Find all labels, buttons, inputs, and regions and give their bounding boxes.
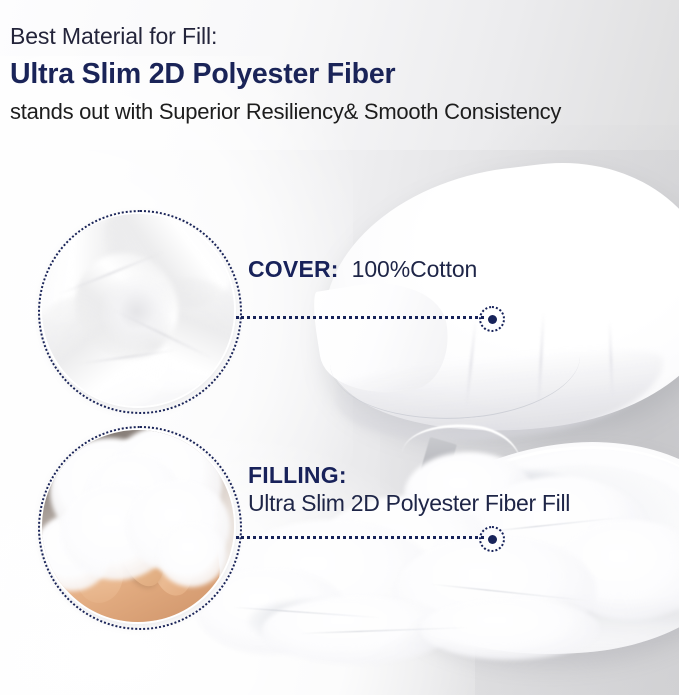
cover-callout-text: COVER: 100%Cotton <box>248 256 477 283</box>
header-block: Best Material for Fill: Ultra Slim 2D Po… <box>10 22 670 126</box>
filling-swatch-photo <box>42 430 234 622</box>
filling-value: Ultra Slim 2D Polyester Fiber Fill <box>248 490 570 517</box>
header-eyebrow: Best Material for Fill: <box>10 22 670 51</box>
cover-label: COVER: <box>248 256 339 283</box>
filling-leader-line <box>236 536 484 539</box>
header-subtitle: stands out with Superior Resiliency& Smo… <box>10 98 670 127</box>
filling-marker-dot-icon <box>479 526 505 552</box>
filling-label: FILLING: <box>248 462 570 489</box>
cover-marker-dot-icon <box>479 306 505 332</box>
product-infographic: Best Material for Fill: Ultra Slim 2D Po… <box>0 0 679 695</box>
cover-leader-line <box>236 316 484 319</box>
header-title: Ultra Slim 2D Polyester Fiber <box>10 56 670 93</box>
hand-with-fiber-scene <box>42 430 234 622</box>
cover-swatch-photo <box>42 214 234 406</box>
fabric-swirl-center <box>100 275 173 348</box>
satin-fabric-texture <box>42 214 234 406</box>
cover-value: 100%Cotton <box>352 256 478 283</box>
filling-callout-text: FILLING: Ultra Slim 2D Polyester Fiber F… <box>248 462 570 517</box>
